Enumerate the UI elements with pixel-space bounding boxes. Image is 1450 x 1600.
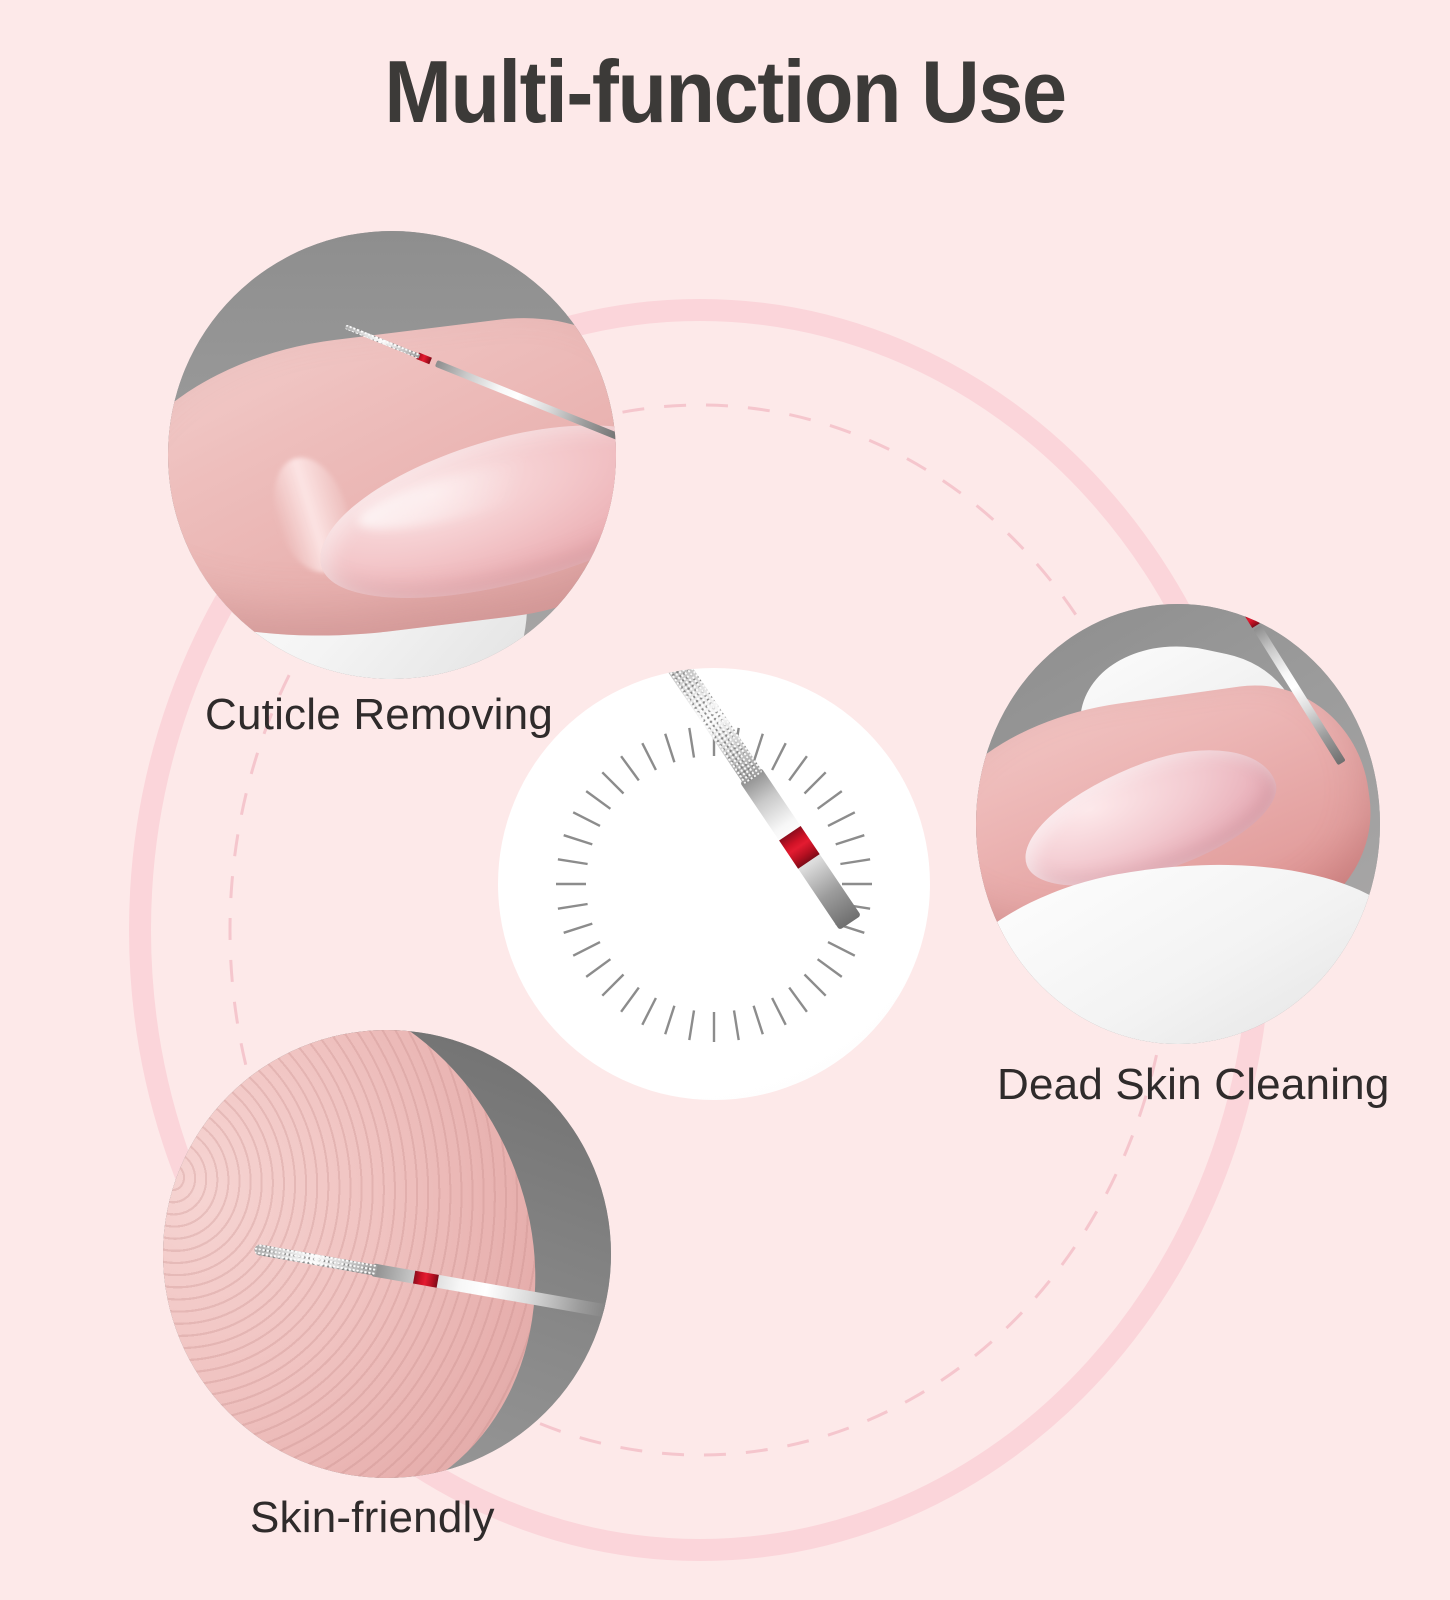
product-hero-circle (498, 668, 930, 1100)
feature-label-dead-skin-cleaning: Dead Skin Cleaning (997, 1060, 1390, 1110)
infographic-page: Multi-function Use (0, 0, 1450, 1600)
page-title: Multi-function Use (58, 46, 1392, 138)
drill-bit-red-band (413, 1271, 439, 1288)
feature-image-dead-skin-cleaning (976, 604, 1380, 1044)
feature-image-cuticle-removing (168, 231, 616, 679)
feature-label-skin-friendly: Skin-friendly (250, 1493, 495, 1543)
feature-label-cuticle-removing: Cuticle Removing (205, 690, 553, 740)
